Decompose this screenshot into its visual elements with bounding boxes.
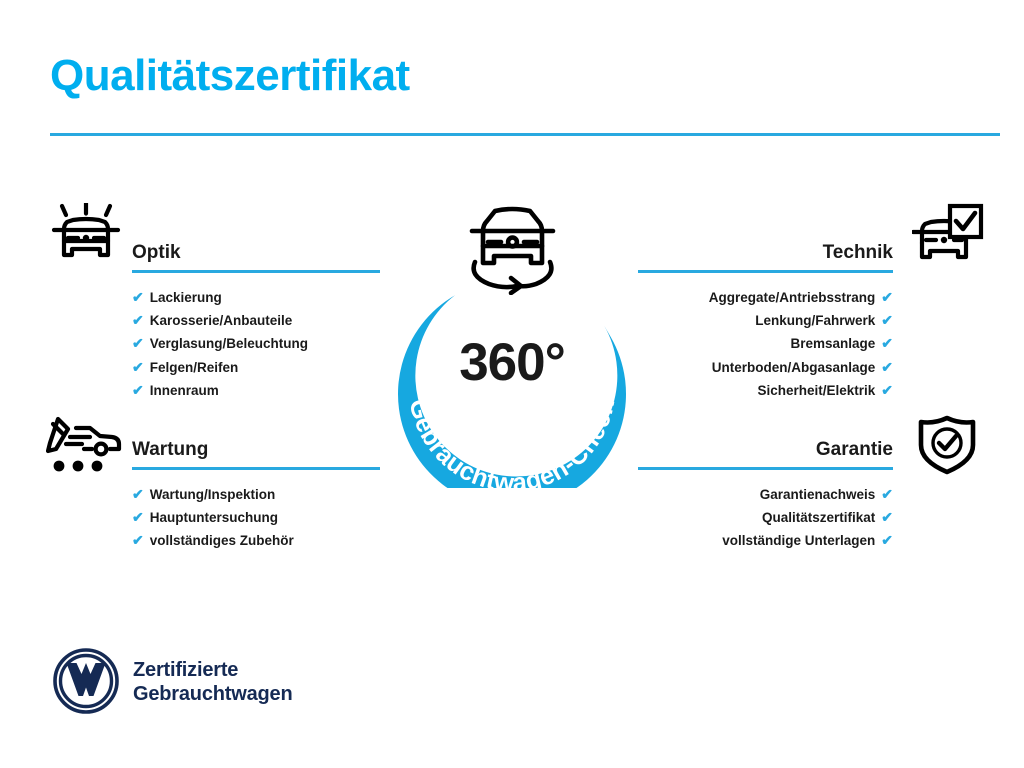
list-item: ✔Karosserie/Anbauteile [132,309,380,332]
page-title: Qualitätszertifikat [50,54,410,98]
list-item-label: Qualitätszertifikat [762,506,875,529]
list-item-label: vollständige Unterlagen [722,529,875,552]
list-item: Sicherheit/Elektrik✔ [638,379,893,402]
list-item: Unterboden/Abgasanlage✔ [638,356,893,379]
section-header-optik: Optik [132,240,380,274]
list-item-label: Wartung/Inspektion [150,483,276,506]
badge-center-label: 360° [376,336,648,389]
section-header-garantie: Garantie [638,437,893,471]
list-item: ✔Felgen/Reifen [132,356,380,379]
certificate-page: Qualitätszertifikat Optik [0,0,1024,768]
car-front-checkbox-icon [912,203,984,269]
list-item: ✔Innenraum [132,379,380,402]
check-list-wartung: ✔Wartung/Inspektion ✔Hauptuntersuchung ✔… [132,483,380,553]
car-front-shine-icon [48,203,124,269]
section-wartung: Wartung ✔Wartung/Inspektion ✔Hauptunters… [132,437,380,553]
list-item-label: Lackierung [150,286,222,309]
check-list-technik: Aggregate/Antriebsstrang✔ Lenkung/Fahrwe… [638,286,893,402]
shield-check-icon [917,415,977,475]
list-item-label: Innenraum [150,379,219,402]
list-item: vollständige Unterlagen✔ [638,529,893,552]
check-list-optik: ✔Lackierung ✔Karosserie/Anbauteile ✔Verg… [132,286,380,402]
section-title-garantie: Garantie [638,437,893,463]
list-item-label: vollständiges Zubehör [150,529,294,552]
check-icon: ✔ [881,286,893,309]
list-item-label: Aggregate/Antriebsstrang [709,286,876,309]
list-item: Qualitätszertifikat✔ [638,506,893,529]
badge-360-check: Gebrauchtwagen-Check 360° [376,258,648,488]
section-optik: Optik ✔Lackierung ✔Karosserie/Anbauteile… [132,240,380,402]
check-icon: ✔ [132,286,144,309]
list-item: Aggregate/Antriebsstrang✔ [638,286,893,309]
check-icon: ✔ [881,356,893,379]
section-header-wartung: Wartung [132,437,380,471]
list-item-label: Karosserie/Anbauteile [150,309,293,332]
section-divider-technik [638,270,893,273]
list-item: Lenkung/Fahrwerk✔ [638,309,893,332]
check-list-garantie: Garantienachweis✔ Qualitätszertifikat✔ v… [638,483,893,553]
check-icon: ✔ [132,332,144,355]
list-item-label: Unterboden/Abgasanlage [712,356,876,379]
vw-logo-line2: Gebrauchtwagen [133,682,292,706]
list-item: ✔Wartung/Inspektion [132,483,380,506]
list-item-label: Sicherheit/Elektrik [757,379,875,402]
list-item-label: Lenkung/Fahrwerk [755,309,875,332]
check-icon: ✔ [132,529,144,552]
check-icon: ✔ [132,356,144,379]
check-icon: ✔ [881,529,893,552]
check-icon: ✔ [881,309,893,332]
list-item: ✔Verglasung/Beleuchtung [132,332,380,355]
check-icon: ✔ [132,309,144,332]
list-item-label: Felgen/Reifen [150,356,239,379]
list-item: Bremsanlage✔ [638,332,893,355]
section-divider-optik [132,270,380,273]
section-divider-garantie [638,467,893,470]
list-item-label: Verglasung/Beleuchtung [150,332,308,355]
vw-logo-line1: Zertifizierte [133,658,292,682]
check-icon: ✔ [881,483,893,506]
list-item-label: Bremsanlage [790,332,875,355]
title-divider [50,133,1000,136]
section-header-technik: Technik [638,240,893,274]
section-title-technik: Technik [638,240,893,266]
vw-logo-text: Zertifizierte Gebrauchtwagen [133,658,292,706]
check-icon: ✔ [881,379,893,402]
vw-logo [52,647,120,715]
list-item: ✔Hauptuntersuchung [132,506,380,529]
section-technik: Technik Aggregate/Antriebsstrang✔ Lenkun… [638,240,893,402]
check-icon: ✔ [132,379,144,402]
check-icon: ✔ [132,506,144,529]
section-divider-wartung [132,467,380,470]
check-icon: ✔ [881,506,893,529]
section-garantie: Garantie Garantienachweis✔ Qualitätszert… [638,437,893,553]
list-item-label: Hauptuntersuchung [150,506,278,529]
car-service-pen-icon [46,415,124,475]
list-item: Garantienachweis✔ [638,483,893,506]
section-title-optik: Optik [132,240,380,266]
check-icon: ✔ [881,332,893,355]
list-item: ✔vollständiges Zubehör [132,529,380,552]
list-item-label: Garantienachweis [760,483,876,506]
section-title-wartung: Wartung [132,437,380,463]
check-icon: ✔ [132,483,144,506]
list-item: ✔Lackierung [132,286,380,309]
